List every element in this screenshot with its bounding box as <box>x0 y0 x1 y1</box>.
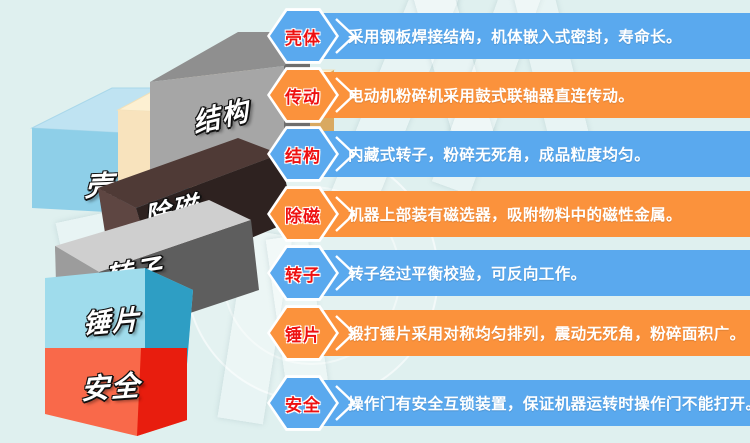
row-text-3: 机器上部装有磁选器，吸附物料中的磁性金属。 <box>348 203 682 225</box>
row-text-2: 内藏式转子，粉碎无死角，成品粒度均匀。 <box>348 143 650 165</box>
row-text-4: 转子经过平衡校验，可反向工作。 <box>348 262 587 284</box>
badge-label-0: 壳体 <box>285 24 321 49</box>
badge-label-3: 除磁 <box>285 202 321 227</box>
row-text-0: 采用钢板焊接结构，机体嵌入式密封，寿命长。 <box>348 25 682 47</box>
feature-row-2[interactable]: 结构 内藏式转子，粉碎无死角，成品粒度均匀。 <box>286 131 750 177</box>
row-badge-3[interactable]: 除磁 <box>267 185 339 243</box>
row-text-5: 锻打锤片采用对称均匀排列，震动无死角，粉碎面积广。 <box>348 322 746 344</box>
feature-row-1[interactable]: 传动 电动机粉碎机采用鼓式联轴器直连传动。 <box>286 72 750 118</box>
badge-label-4: 转子 <box>285 261 321 286</box>
badge-label-1: 传动 <box>285 83 321 108</box>
row-badge-2[interactable]: 结构 <box>267 125 339 183</box>
row-badge-1[interactable]: 传动 <box>267 66 339 124</box>
row-text-1: 电动机粉碎机采用鼓式联轴器直连传动。 <box>348 84 634 106</box>
feature-row-4[interactable]: 转子 转子经过平衡校验，可反向工作。 <box>286 250 750 296</box>
badge-label-5: 锤片 <box>285 321 321 346</box>
row-badge-6[interactable]: 安全 <box>267 374 339 432</box>
feature-row-3[interactable]: 除磁 机器上部装有磁选器，吸附物料中的磁性金属。 <box>286 191 750 237</box>
row-badge-4[interactable]: 转子 <box>267 244 339 302</box>
row-badge-0[interactable]: 壳体 <box>267 7 339 65</box>
infographic-stage: 壳体 传动 结构 <box>0 0 750 443</box>
row-text-6: 操作门有安全互锁装置，保证机器运转时操作门不能打开。 <box>348 392 750 414</box>
row-badge-5[interactable]: 锤片 <box>267 304 339 362</box>
feature-row-6[interactable]: 安全 操作门有安全互锁装置，保证机器运转时操作门不能打开。 <box>286 380 750 426</box>
feature-row-list: 壳体 采用钢板焊接结构，机体嵌入式密封，寿命长。 传动 电动机粉碎机采用鼓式联轴… <box>0 0 750 443</box>
feature-row-5[interactable]: 锤片 锻打锤片采用对称均匀排列，震动无死角，粉碎面积广。 <box>286 310 750 356</box>
badge-label-2: 结构 <box>285 142 321 167</box>
feature-row-0[interactable]: 壳体 采用钢板焊接结构，机体嵌入式密封，寿命长。 <box>286 13 750 59</box>
badge-label-6: 安全 <box>285 391 321 416</box>
